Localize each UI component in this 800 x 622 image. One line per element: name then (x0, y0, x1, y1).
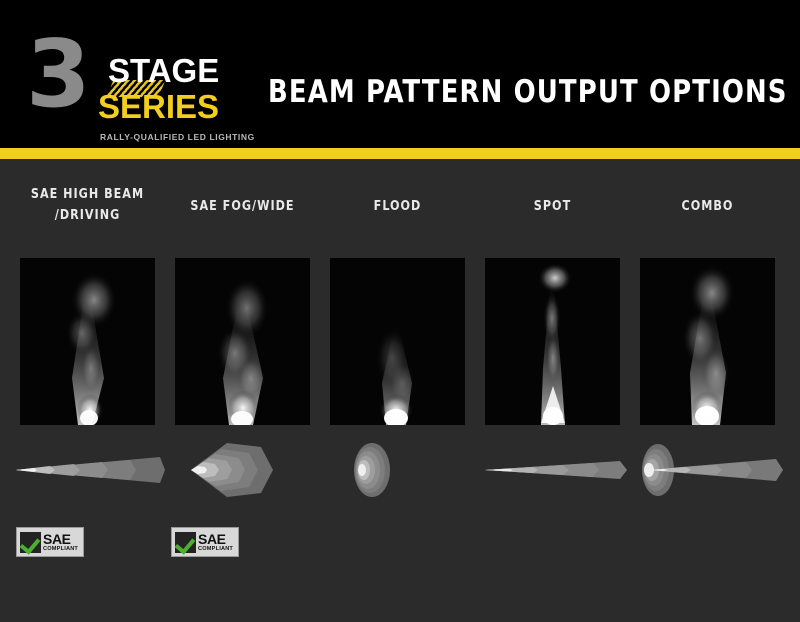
column-label: SAE FOG/WIDE (171, 196, 314, 217)
sae-compliant-badge: SAE COMPLIANT (171, 527, 239, 557)
header-bar: 3 STAGE SERIES RALLY-QUALIFIED LED LIGHT… (0, 0, 800, 148)
logo-tagline: RALLY-QUALIFIED LED LIGHTING (100, 132, 255, 142)
beam-diagram-svg (475, 439, 630, 501)
badge-text: SAE COMPLIANT (198, 532, 233, 553)
night-road-photo-svg (175, 258, 310, 425)
night-road-photo-svg (330, 258, 465, 425)
badge-primary-label: SAE (198, 532, 233, 546)
beam-column-sae-high-beam: SAE HIGH BEAM /DRIVING (10, 159, 165, 622)
column-label: FLOOD (326, 196, 469, 217)
header-divider (0, 148, 800, 159)
beam-column-combo: COMBO (630, 159, 785, 622)
night-road-photo-svg (20, 258, 155, 425)
beam-diagram (10, 439, 165, 501)
column-label-line1: SAE HIGH BEAM (31, 186, 144, 202)
badge-secondary-label: COMPLIANT (43, 547, 78, 553)
column-label: SPOT (481, 196, 624, 217)
badge-primary-label: SAE (43, 532, 78, 546)
column-label-line1: SAE FOG/WIDE (190, 198, 294, 214)
beam-photo (485, 258, 620, 425)
beam-diagram (165, 439, 320, 501)
page-title: BEAM PATTERN OUTPUT OPTIONS (268, 74, 788, 110)
beam-diagram-svg (10, 439, 165, 501)
beam-diagram (630, 439, 785, 501)
beam-column-spot: SPOT (475, 159, 630, 622)
beam-diagram (320, 439, 475, 501)
night-road-photo-svg (485, 258, 620, 425)
beam-diagram-svg (320, 439, 475, 501)
column-label-line1: COMBO (682, 198, 734, 214)
beam-column-sae-fog-wide: SAE FOG/WIDE (165, 159, 320, 622)
check-icon (20, 532, 41, 553)
beam-photo (175, 258, 310, 425)
beam-photo (640, 258, 775, 425)
column-label: SAE HIGH BEAM /DRIVING (16, 184, 159, 226)
logo-numeral: 3 (26, 28, 86, 120)
badge-secondary-label: COMPLIANT (198, 547, 233, 553)
beam-photo (330, 258, 465, 425)
beam-diagram-svg (630, 439, 785, 501)
night-road-photo-svg (640, 258, 775, 425)
column-label-line1: SPOT (534, 198, 571, 214)
column-label-line2: /DRIVING (55, 207, 121, 223)
beam-diagram-svg (165, 439, 320, 501)
check-icon (175, 532, 196, 553)
badge-text: SAE COMPLIANT (43, 532, 78, 553)
logo-word-stage: STAGE (108, 54, 219, 87)
beam-column-flood: FLOOD (320, 159, 475, 622)
sae-compliant-badge: SAE COMPLIANT (16, 527, 84, 557)
column-label: COMBO (636, 196, 779, 217)
brand-logo: 3 STAGE SERIES RALLY-QUALIFIED LED LIGHT… (26, 28, 246, 128)
beam-pattern-grid: SAE HIGH BEAM /DRIVING (0, 159, 800, 622)
beam-diagram (475, 439, 630, 501)
column-label-line1: FLOOD (374, 198, 422, 214)
beam-photo (20, 258, 155, 425)
logo-word-series: SERIES (98, 90, 219, 123)
